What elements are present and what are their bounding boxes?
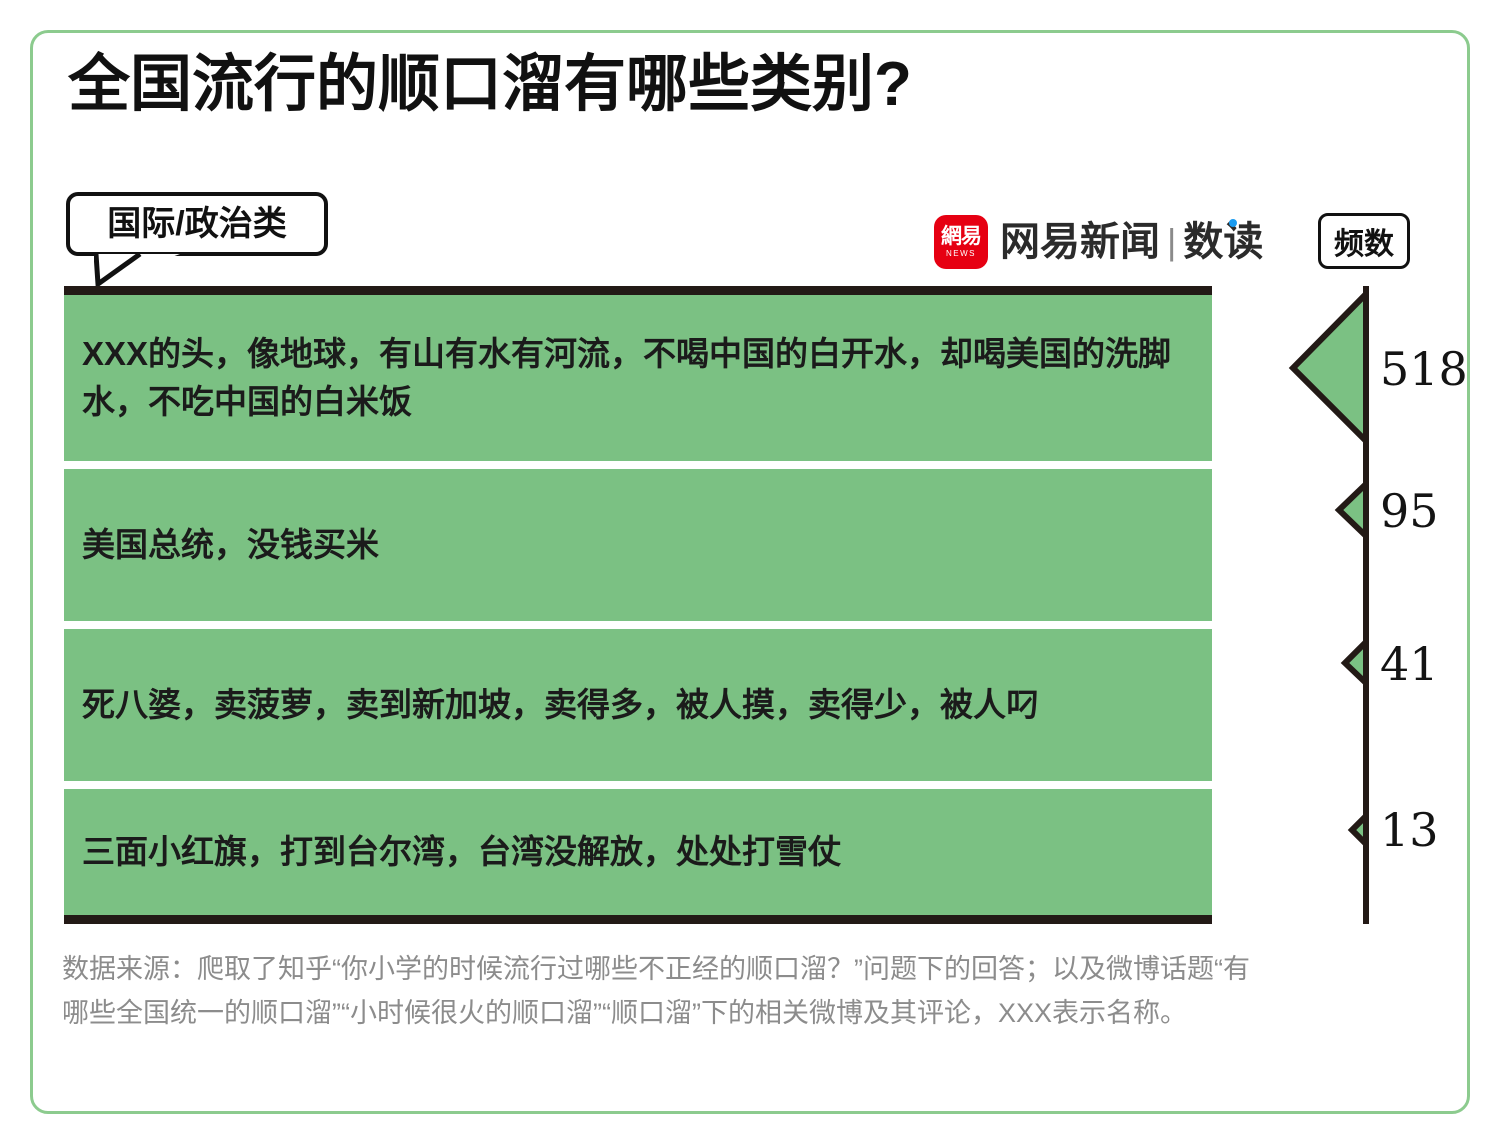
value-label: 13 <box>1380 807 1439 853</box>
bar-marker-triangle-518 <box>64 286 1404 924</box>
chart-area: XXX的头，像地球，有山有水有河流，不喝中国的白开水，却喝美国的洗脚水，不吃中国… <box>64 286 1404 924</box>
value-label: 41 <box>1380 641 1439 687</box>
speech-bubble-tail-icon <box>94 252 184 286</box>
netease-logo-mark-icon: 網易 NEWS <box>934 215 988 269</box>
logo-section-name: 数读 <box>1183 222 1263 262</box>
logo-wordmark: 网易新闻 | 数读 <box>1000 222 1263 262</box>
logo-section-text: 数读 <box>1183 220 1263 264</box>
logo-separator: | <box>1167 224 1176 260</box>
infographic-canvas: 全国流行的顺口溜有哪些类别? 国际/政治类 網易 NEWS 网易新闻 | 数读 … <box>0 0 1500 1144</box>
logo-brand-name: 网易新闻 <box>1000 222 1160 262</box>
value-label: 95 <box>1380 488 1439 534</box>
logo-mark-cn-text: 網易 <box>941 226 981 247</box>
netease-news-logo: 網易 NEWS 网易新闻 | 数读 <box>934 214 1263 270</box>
page-title: 全国流行的顺口溜有哪些类别? <box>68 52 1268 117</box>
category-badge: 国际/政治类 <box>66 192 336 284</box>
data-source-footnote: 数据来源：爬取了知乎“你小学的时候流行过哪些不正经的顺口溜？”问题下的回答；以及… <box>62 948 1252 1035</box>
logo-mark-en-text: NEWS <box>946 250 976 258</box>
category-badge-label: 国际/政治类 <box>107 207 286 241</box>
value-label: 518 <box>1380 346 1468 392</box>
frequency-axis-label: 频数 <box>1318 213 1410 269</box>
category-badge-box: 国际/政治类 <box>66 192 328 256</box>
